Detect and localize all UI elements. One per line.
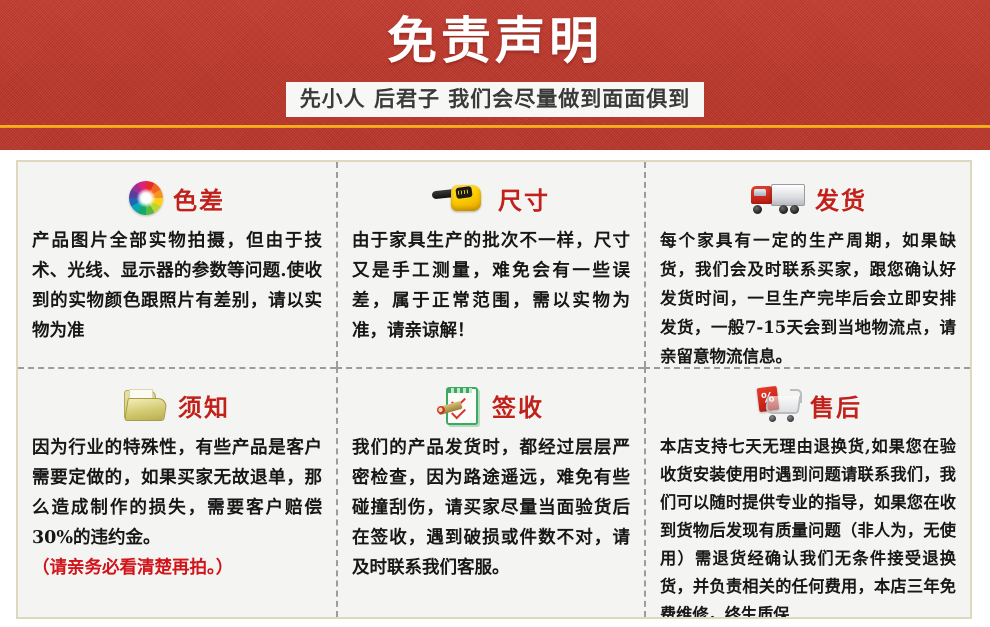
cell-body: 因为行业的特殊性，有些产品是客户需要定做的，如果买家无故退单，那么造成制作的损失… (32, 433, 322, 553)
cell-title: 售后 (810, 388, 862, 423)
color-wheel-icon (129, 181, 163, 215)
cell-size: 尺寸 由于家具生产的批次不一样，尺寸又是手工测量，难免会有一些误差，属于正常范围… (336, 162, 644, 367)
cell-after-sales: % 售后 本店支持七天无理由退换货,如果您在验收货安装使用时遇到问题请联系我们，… (644, 367, 970, 617)
cell-color-difference: 色差 产品图片全部实物拍摄，但由于技术、光线、显示器的参数等问题.使收到的实物颜… (18, 162, 336, 367)
cell-header: 尺寸 (352, 176, 630, 220)
header-divider-rule (0, 125, 990, 128)
cell-title: 须知 (178, 388, 230, 423)
disclaimer-grid: 色差 产品图片全部实物拍摄，但由于技术、光线、显示器的参数等问题.使收到的实物颜… (18, 162, 970, 617)
cell-header: % 售后 (660, 383, 956, 427)
cell-body: 每个家具有一定的生产周期，如果缺货，我们会及时联系买家，跟您确认好发货时间，一旦… (660, 226, 956, 367)
header-subtitle-wrap: 先小人 后君子 我们会尽量做到面面俱到 (0, 82, 990, 117)
cell-body: 我们的产品发货时，都经过层层严密检查，因为路途遥远，难免有些碰撞刮伤，请买家尽量… (352, 433, 630, 583)
cell-header: 发货 (660, 176, 956, 220)
page-title: 免责声明 (0, 12, 990, 70)
cell-title: 签收 (492, 388, 544, 423)
tape-measure-icon (432, 183, 488, 213)
page-header: 免责声明 先小人 后君子 我们会尽量做到面面俱到 (0, 0, 990, 150)
disclaimer-page: 免责声明 先小人 后君子 我们会尽量做到面面俱到 色差 产品图片全部实物拍摄，但… (0, 0, 990, 627)
cart-discount-icon: % (754, 387, 800, 423)
cell-body: 由于家具生产的批次不一样，尺寸又是手工测量，难免会有一些误差，属于正常范围，需以… (352, 226, 630, 346)
cell-body: 本店支持七天无理由退换货,如果您在验收货安装使用时遇到问题请联系我们，我们可以随… (660, 433, 956, 617)
cell-header: 色差 (32, 176, 322, 220)
cell-header: 签收 (352, 383, 630, 427)
cell-title: 色差 (173, 181, 225, 216)
cell-shipping: 发货 每个家具有一定的生产周期，如果缺货，我们会及时联系买家，跟您确认好发货时间… (644, 162, 970, 367)
cell-warning: （请亲务必看清楚再拍。） (32, 553, 322, 583)
cell-title: 尺寸 (498, 181, 550, 216)
cell-notice: 须知 因为行业的特殊性，有些产品是客户需要定做的，如果买家无故退单，那么造成制作… (18, 367, 336, 617)
clipboard-check-icon (438, 387, 482, 423)
folder-icon (124, 389, 168, 421)
header-subtitle: 先小人 后君子 我们会尽量做到面面俱到 (286, 82, 705, 117)
truck-icon (749, 182, 805, 214)
cell-header: 须知 (32, 383, 322, 427)
disclaimer-panel: 色差 产品图片全部实物拍摄，但由于技术、光线、显示器的参数等问题.使收到的实物颜… (16, 160, 972, 619)
cell-title: 发货 (815, 181, 867, 216)
cell-signing: 签收 我们的产品发货时，都经过层层严密检查，因为路途遥远，难免有些碰撞刮伤，请买… (336, 367, 644, 617)
cell-body: 产品图片全部实物拍摄，但由于技术、光线、显示器的参数等问题.使收到的实物颜色跟照… (32, 226, 322, 346)
